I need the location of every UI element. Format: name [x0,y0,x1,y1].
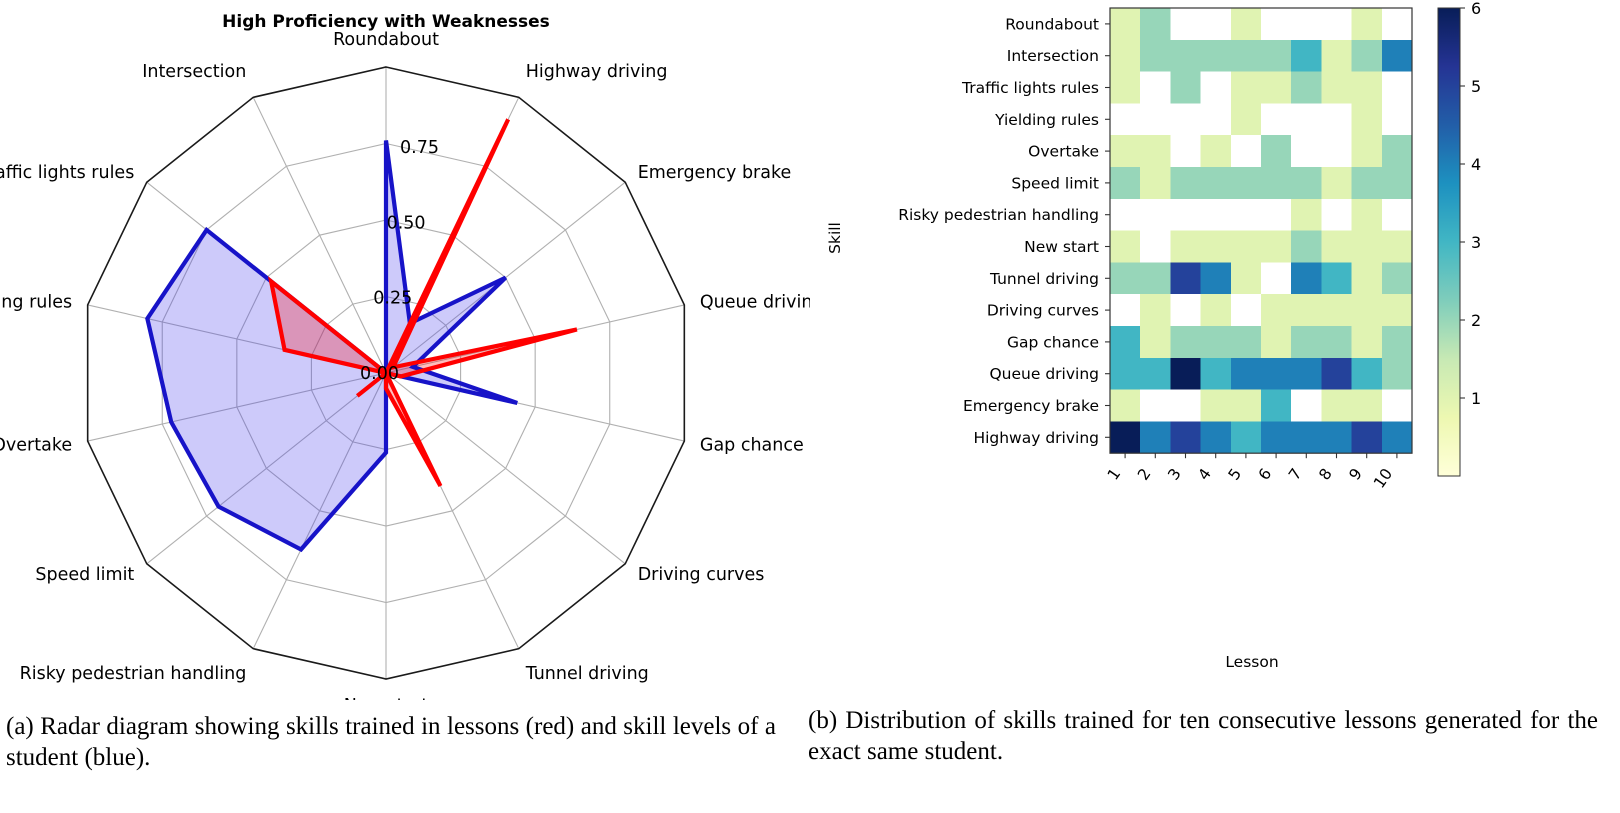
heatmap-xlabel-3: 3 [1164,465,1184,483]
heatmap-cell [1352,231,1383,263]
heatmap-cell [1201,294,1232,326]
heatmap-cell [1110,294,1141,326]
heatmap-cell [1291,358,1322,390]
heatmap-cell [1321,40,1352,72]
heatmap-cell [1291,103,1322,135]
heatmap-cell [1170,8,1201,40]
heatmap-cell [1321,421,1352,453]
heatmap-cell [1201,358,1232,390]
heatmap-cell [1140,294,1171,326]
heatmap-cell [1170,390,1201,422]
radar-rtick-1: 0.25 [373,289,412,309]
radar-chart: High Proficiency with Weaknesses Roundab… [0,0,810,700]
heatmap-cell [1352,358,1383,390]
heatmap-xlabel-2: 2 [1134,465,1154,483]
heatmap-cell [1170,167,1201,199]
heatmap-cell [1140,135,1171,167]
heatmap-cell [1201,167,1232,199]
heatmap-cell [1201,40,1232,72]
heatmap-cell [1352,167,1383,199]
heatmap-cell [1261,231,1292,263]
heatmap-cell [1231,199,1262,231]
heatmap-cell [1140,421,1171,453]
heatmap-cell [1382,421,1413,453]
heatmap-cell [1352,135,1383,167]
heatmap-cell [1170,135,1201,167]
heatmap-ylabel-highway-driving: Highway driving [973,429,1099,447]
heatmap-cell [1321,231,1352,263]
heatmap-cell [1201,199,1232,231]
heatmap-cell [1140,231,1171,263]
figure-container: High Proficiency with Weaknesses Roundab… [0,0,1620,813]
heatmap-cell [1110,262,1141,294]
heatmap-cell [1261,135,1292,167]
heatmap-cell [1382,231,1413,263]
heatmap-cell [1321,262,1352,294]
heatmap-cell [1352,390,1383,422]
heatmap-cells [1110,8,1412,454]
heatmap-cell [1382,135,1413,167]
heatmap-cell [1110,40,1141,72]
heatmap-ylabel-tunnel-driving: Tunnel driving [989,270,1099,288]
heatmap-cell [1201,262,1232,294]
heatmap-cell [1291,167,1322,199]
heatmap-xlabel-5: 5 [1225,465,1245,483]
heatmap-ylabel-gap-chance: Gap chance [1007,333,1099,351]
heatmap-cell [1140,8,1171,40]
heatmap-cell [1231,40,1262,72]
heatmap-cell [1170,103,1201,135]
heatmap-cell [1140,103,1171,135]
heatmap-cell [1110,167,1141,199]
heatmap-cell [1261,262,1292,294]
heatmap-cell [1352,103,1383,135]
heatmap-cell [1231,167,1262,199]
heatmap-cell [1321,326,1352,358]
heatmap-cell [1140,72,1171,104]
heatmap-cell [1170,40,1201,72]
heatmap-cell [1201,135,1232,167]
heatmap-cell [1170,72,1201,104]
heatmap-cell [1170,199,1201,231]
heatmap-ylabel-overtake: Overtake [1028,143,1099,161]
heatmap-cell [1352,326,1383,358]
heatmap-yaxis-title: Skill [826,222,844,254]
heatmap-cell [1261,294,1292,326]
heatmap-cell [1352,8,1383,40]
heatmap-xlabel-10: 10 [1370,465,1396,491]
heatmap-cell [1321,390,1352,422]
heatmap-x-tick-labels: 12345678910 [1104,453,1397,491]
heatmap-xaxis-title: Lesson [1225,653,1278,671]
heatmap-cell [1140,167,1171,199]
heatmap-cell [1291,421,1322,453]
heatmap-cell [1261,8,1292,40]
colorbar-tick-6: 6 [1471,0,1481,18]
heatmap-cell [1261,358,1292,390]
radar-rtick-0: 0.00 [360,364,399,384]
radar-axis-label-speed-limit: Speed limit [35,565,134,585]
heatmap-cell [1382,199,1413,231]
heatmap-cell [1291,199,1322,231]
heatmap-xlabel-6: 6 [1255,465,1275,483]
heatmap-cell [1291,72,1322,104]
heatmap-cell [1382,40,1413,72]
heatmap-cell [1291,135,1322,167]
heatmap-cell [1231,390,1262,422]
heatmap-cell [1140,390,1171,422]
heatmap-xlabel-4: 4 [1195,465,1215,483]
heatmap-cell [1321,358,1352,390]
heatmap-cell [1201,421,1232,453]
colorbar-tick-4: 4 [1471,155,1481,174]
heatmap-cell [1291,231,1322,263]
heatmap-cell [1170,421,1201,453]
colorbar-tick-3: 3 [1471,233,1481,252]
colorbar-tick-2: 2 [1471,311,1481,330]
radar-rtick-3: 0.75 [400,138,439,158]
heatmap-cell [1261,72,1292,104]
heatmap-cell [1231,358,1262,390]
heatmap-cell [1261,40,1292,72]
heatmap-cell [1201,390,1232,422]
heatmap-cell [1201,326,1232,358]
heatmap-cell [1321,72,1352,104]
radar-axis-label-roundabout: Roundabout [333,30,439,50]
heatmap-cell [1140,326,1171,358]
heatmap-cell [1140,40,1171,72]
heatmap-cell [1261,390,1292,422]
heatmap-cell [1352,72,1383,104]
heatmap-cell [1382,326,1413,358]
heatmap-ylabel-intersection: Intersection [1007,47,1099,65]
heatmap-cell [1231,72,1262,104]
radar-axis-label-traffic-lights-rules: Traffic lights rules [0,163,134,183]
radar-axis-label-queue-driving: Queue driving` [700,292,810,312]
heatmap-cell [1201,231,1232,263]
heatmap-cell [1110,358,1141,390]
heatmap-cell [1382,358,1413,390]
heatmap-cell [1201,8,1232,40]
heatmap-cell [1291,294,1322,326]
heatmap-cell [1352,294,1383,326]
radar-axis-label-driving-curves: Driving curves [638,565,765,585]
heatmap-cell [1321,103,1352,135]
heatmap-cell [1170,262,1201,294]
heatmap-cell [1261,167,1292,199]
heatmap-cell [1382,262,1413,294]
heatmap-cell [1231,326,1262,358]
heatmap-cell [1110,8,1141,40]
heatmap-cell [1110,135,1141,167]
radar-axis-label-highway-driving: Highway driving [526,62,668,82]
heatmap-cell [1231,135,1262,167]
heatmap-y-tick-labels: RoundaboutIntersectionTraffic lights rul… [898,15,1110,446]
heatmap-cell [1231,103,1262,135]
heatmap-cell [1321,8,1352,40]
radar-axis-label-gap-chance: Gap chance [700,436,804,456]
heatmap-cell [1291,8,1322,40]
heatmap-xlabel-8: 8 [1315,465,1335,483]
heatmap-cell [1231,8,1262,40]
caption-a: (a) Radar diagram showing skills trained… [6,712,776,773]
heatmap-ylabel-speed-limit: Speed limit [1011,174,1099,192]
radar-rtick-2: 0.50 [387,213,426,233]
heatmap-ylabel-traffic-lights-rules: Traffic lights rules [961,79,1099,97]
heatmap-ylabel-driving-curves: Driving curves [987,302,1099,320]
heatmap-ylabel-queue-driving: Queue driving [989,365,1099,383]
heatmap-ylabel-risky-pedestrian-handling: Risky pedestrian handling [898,206,1099,224]
heatmap-cell [1170,326,1201,358]
heatmap-ylabel-yielding-rules: Yielding rules [994,111,1099,129]
heatmap-cell [1170,231,1201,263]
heatmap-cell [1382,390,1413,422]
heatmap-cell [1231,421,1262,453]
heatmap-cell [1110,231,1141,263]
heatmap-cell [1382,167,1413,199]
heatmap-cell [1140,199,1171,231]
heatmap-cell [1291,40,1322,72]
radar-axis-label-tunnel-driving: Tunnel driving [525,664,649,684]
heatmap-cell [1352,262,1383,294]
heatmap-cell [1110,199,1141,231]
heatmap-cell [1231,262,1262,294]
heatmap-cell [1261,199,1292,231]
heatmap-cell [1170,358,1201,390]
colorbar-tick-1: 1 [1471,389,1481,408]
heatmap-cell [1170,294,1201,326]
heatmap-cell [1201,103,1232,135]
heatmap-cell [1382,103,1413,135]
heatmap-cell [1291,390,1322,422]
heatmap-ylabel-emergency-brake: Emergency brake [963,397,1099,415]
heatmap-colorbar: 123456 [1438,0,1481,476]
heatmap-cell [1110,72,1141,104]
heatmap-cell [1110,390,1141,422]
heatmap-ylabel-new-start: New start [1024,238,1099,256]
heatmap-cell [1321,294,1352,326]
radar-series-group [147,119,577,549]
radar-axis-label-intersection: Intersection [142,62,246,82]
heatmap-cell [1110,421,1141,453]
radar-axis-label-new-start: New start [344,696,429,700]
heatmap-xlabel-1: 1 [1104,465,1124,483]
heatmap-cell [1382,294,1413,326]
heatmap-xlabel-9: 9 [1346,465,1366,483]
heatmap-cell [1261,326,1292,358]
heatmap-cell [1291,326,1322,358]
heatmap-cell [1110,326,1141,358]
heatmap-cell [1382,8,1413,40]
heatmap-cell [1261,103,1292,135]
heatmap-cell [1110,103,1141,135]
heatmap-chart: RoundaboutIntersectionTraffic lights rul… [810,0,1620,700]
heatmap-cell [1321,199,1352,231]
heatmap-cell [1291,262,1322,294]
heatmap-cell [1261,421,1292,453]
heatmap-cell [1352,199,1383,231]
radar-title: High Proficiency with Weaknesses [222,12,550,32]
heatmap-cell [1231,294,1262,326]
heatmap-xlabel-7: 7 [1285,465,1305,483]
heatmap-cell [1321,167,1352,199]
radar-axis-label-risky-pedestrian-handling: Risky pedestrian handling [20,664,247,684]
radar-axis-label-overtake: Overtake [0,436,72,456]
heatmap-ylabel-roundabout: Roundabout [1005,15,1099,33]
heatmap-cell [1201,72,1232,104]
heatmap-cell [1321,135,1352,167]
colorbar-tick-5: 5 [1471,77,1481,96]
heatmap-cell [1352,421,1383,453]
radar-axis-label-emergency-brake: Emergency brake [638,163,792,183]
heatmap-cell [1140,262,1171,294]
heatmap-panel: RoundaboutIntersectionTraffic lights rul… [810,0,1620,700]
heatmap-cell [1140,358,1171,390]
heatmap-cell [1352,40,1383,72]
heatmap-cell [1382,72,1413,104]
caption-b: (b) Distribution of skills trained for t… [808,706,1598,767]
colorbar-gradient [1438,8,1460,476]
radar-panel: High Proficiency with Weaknesses Roundab… [0,0,810,700]
heatmap-cell [1231,231,1262,263]
radar-axis-label-yielding-rules: Yielding rules [0,292,72,312]
